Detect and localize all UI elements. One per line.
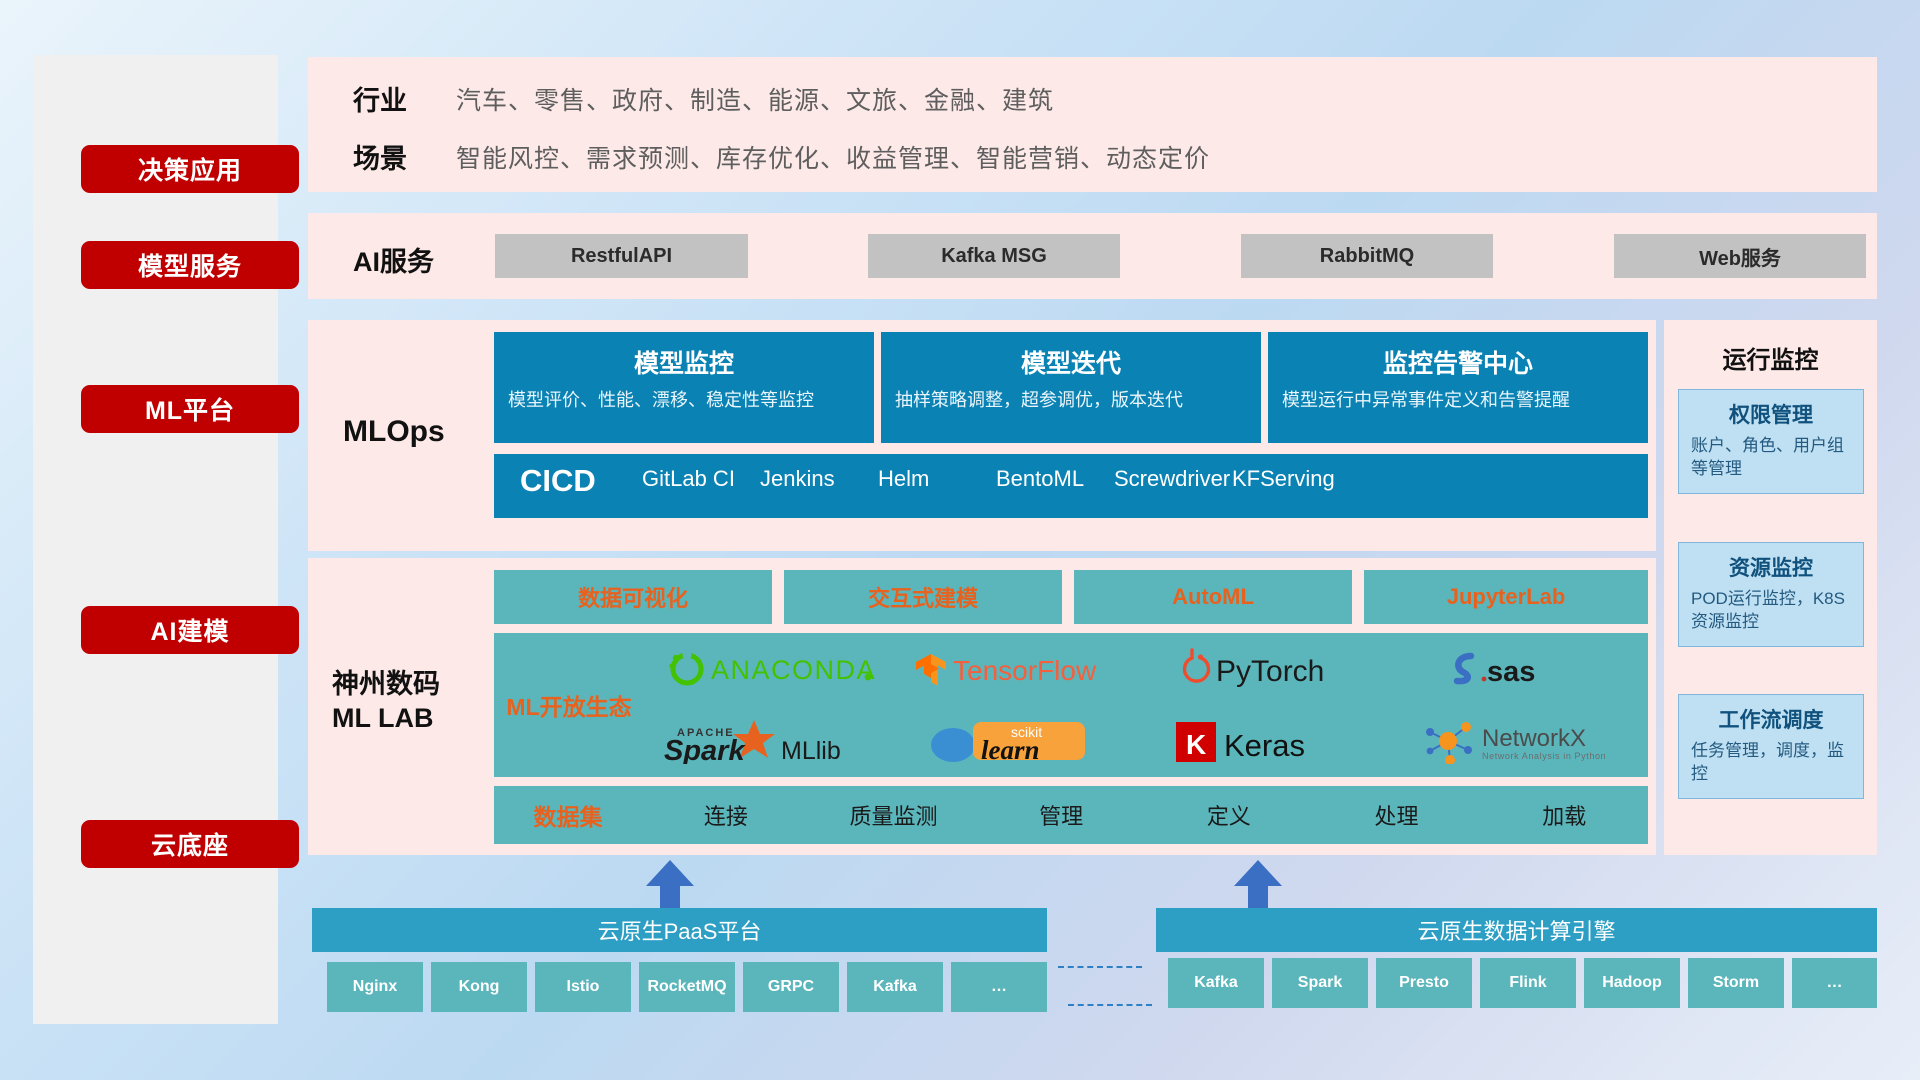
tensorflow-logo: TensorFlow (913, 648, 1128, 690)
ml-lab-label-line1: 神州数码 (332, 668, 440, 702)
card-title: 资源监控 (1691, 552, 1851, 582)
keras-logo: K Keras (1174, 718, 1370, 764)
chip-kong[interactable]: Kong (431, 962, 527, 1012)
tab-jupyterlab[interactable]: JupyterLab (1364, 570, 1648, 624)
mlops-card-model-iteration[interactable]: 模型迭代 抽样策略调整，超参调优，版本迭代 (881, 332, 1261, 443)
svg-text:K: K (1186, 729, 1206, 760)
svg-text:learn: learn (981, 735, 1040, 764)
dataset-item-connect[interactable]: 连接 (642, 799, 810, 831)
dataset-label: 数据集 (494, 798, 642, 832)
ai-service-panel: AI服务 RestfulAPI Kafka MSG RabbitMQ Web服务 (308, 213, 1877, 299)
sas-logo: sas (1443, 648, 1603, 690)
scikit-learn-logo: scikit learn (921, 718, 1121, 764)
dataset-item-define[interactable]: 定义 (1145, 799, 1313, 831)
cicd-item-screwdriver[interactable]: Screwdriver (1114, 454, 1232, 492)
service-pill-kafka-msg[interactable]: Kafka MSG (868, 234, 1120, 278)
chip-storm[interactable]: Storm (1688, 958, 1784, 1008)
svg-text:Network Analysis in Python: Network Analysis in Python (1482, 751, 1606, 761)
card-desc: 模型评价、性能、漂移、稳定性等监控 (508, 389, 860, 413)
application-layer-panel: 行业 汽车、零售、政府、制造、能源、文旅、金融、建筑 场景 智能风控、需求预测、… (308, 57, 1877, 192)
eco-label: ML开放生态 (494, 633, 644, 777)
svg-text:Keras: Keras (1224, 728, 1305, 763)
card-desc: 模型运行中异常事件定义和告警提醒 (1282, 389, 1634, 413)
mlops-card-model-monitoring[interactable]: 模型监控 模型评价、性能、漂移、稳定性等监控 (494, 332, 874, 443)
left-rail: 决策应用 模型服务 ML平台 AI建模 云底座 (33, 55, 278, 1024)
dataset-item-load[interactable]: 加载 (1480, 799, 1648, 831)
rail-chip-model-service[interactable]: 模型服务 (81, 241, 299, 289)
chip-spark[interactable]: Spark (1272, 958, 1368, 1008)
chip-rocketmq[interactable]: RocketMQ (639, 962, 735, 1012)
service-pill-restfulapi[interactable]: RestfulAPI (495, 234, 748, 278)
cicd-label: CICD (494, 454, 642, 499)
cicd-item-gitlab-ci[interactable]: GitLab CI (642, 454, 760, 492)
modeling-panel: 神州数码 ML LAB 数据可视化 交互式建模 AutoML JupyterLa… (308, 558, 1656, 855)
ml-lab-label-line2: ML LAB (332, 702, 440, 736)
svg-text:Spark: Spark (664, 735, 746, 764)
card-desc: 任务管理，调度，监控 (1691, 740, 1851, 786)
cicd-item-kfserving[interactable]: KFServing (1232, 454, 1350, 492)
dataset-item-quality[interactable]: 质量监测 (810, 799, 978, 831)
monitoring-card-resource[interactable]: 资源监控 POD运行监控，K8S资源监控 (1678, 542, 1864, 647)
service-pill-web[interactable]: Web服务 (1614, 234, 1866, 278)
arrow-up-paas (640, 860, 700, 908)
card-title: 工作流调度 (1691, 704, 1851, 734)
card-title: 模型监控 (508, 344, 860, 380)
data-engine-bar[interactable]: 云原生数据计算引擎 (1156, 908, 1877, 952)
card-desc: POD运行监控，K8S资源监控 (1691, 588, 1851, 634)
chip-hadoop[interactable]: Hadoop (1584, 958, 1680, 1008)
chip-more-right[interactable]: … (1792, 958, 1877, 1008)
rail-chip-ai-modeling[interactable]: AI建模 (81, 606, 299, 654)
chip-flink[interactable]: Flink (1480, 958, 1576, 1008)
svg-text:TensorFlow: TensorFlow (953, 655, 1097, 686)
rail-chip-cloud-base[interactable]: 云底座 (81, 820, 299, 868)
chip-istio[interactable]: Istio (535, 962, 631, 1012)
chip-grpc[interactable]: GRPC (743, 962, 839, 1012)
monitoring-card-workflow[interactable]: 工作流调度 任务管理，调度，监控 (1678, 694, 1864, 799)
rail-chip-ml-platform[interactable]: ML平台 (81, 385, 299, 433)
industry-value: 汽车、零售、政府、制造、能源、文旅、金融、建筑 (456, 81, 1054, 117)
tab-automl[interactable]: AutoML (1074, 570, 1352, 624)
svg-text:ANACONDA: ANACONDA (711, 655, 875, 685)
monitoring-card-permission[interactable]: 权限管理 账户、角色、用户组等管理 (1678, 389, 1864, 494)
card-desc: 账户、角色、用户组等管理 (1691, 435, 1851, 481)
chip-kafka-right[interactable]: Kafka (1168, 958, 1264, 1008)
svg-text:PyTorch: PyTorch (1216, 655, 1324, 688)
mlops-panel: MLOps 模型监控 模型评价、性能、漂移、稳定性等监控 模型迭代 抽样策略调整… (308, 320, 1656, 551)
networkx-logo: NetworkX Network Analysis in Python (1418, 718, 1628, 764)
card-title: 模型迭代 (895, 344, 1247, 380)
scene-label: 场景 (353, 137, 407, 176)
monitoring-title: 运行监控 (1664, 340, 1877, 375)
ml-open-ecosystem: ML开放生态 ANACONDA (494, 633, 1648, 777)
paas-bar[interactable]: 云原生PaaS平台 (312, 908, 1047, 952)
eco-logo-grid: ANACONDA TensorFlow (644, 633, 1648, 777)
service-pill-rabbitmq[interactable]: RabbitMQ (1241, 234, 1493, 278)
chip-presto[interactable]: Presto (1376, 958, 1472, 1008)
pytorch-logo: PyTorch (1172, 648, 1372, 690)
cicd-item-bentoml[interactable]: BentoML (996, 454, 1114, 492)
ai-service-label: AI服务 (353, 240, 434, 279)
card-desc: 抽样策略调整，超参调优，版本迭代 (895, 389, 1247, 413)
architecture-diagram: 决策应用 模型服务 ML平台 AI建模 云底座 行业 汽车、零售、政府、制造、能… (0, 0, 1920, 1080)
svg-text:sas: sas (1487, 656, 1535, 688)
arrow-up-data-engine (1228, 860, 1288, 908)
monitoring-panel: 运行监控 权限管理 账户、角色、用户组等管理 资源监控 POD运行监控，K8S资… (1664, 320, 1877, 855)
svg-text:NetworkX: NetworkX (1482, 725, 1586, 752)
chip-nginx[interactable]: Nginx (327, 962, 423, 1012)
svg-text:MLlib: MLlib (781, 737, 841, 764)
tab-data-visualization[interactable]: 数据可视化 (494, 570, 772, 624)
anaconda-logo: ANACONDA (665, 648, 875, 690)
tab-interactive-modeling[interactable]: 交互式建模 (784, 570, 1062, 624)
chip-kafka-left[interactable]: Kafka (847, 962, 943, 1012)
mlops-card-alert-center[interactable]: 监控告警中心 模型运行中异常事件定义和告警提醒 (1268, 332, 1648, 443)
industry-label: 行业 (353, 79, 407, 118)
chip-more-left[interactable]: … (951, 962, 1047, 1012)
card-title: 权限管理 (1691, 399, 1851, 429)
ml-lab-label: 神州数码 ML LAB (332, 668, 440, 736)
cicd-bar: CICD GitLab CI Jenkins Helm BentoML Scre… (494, 454, 1648, 518)
dataset-item-manage[interactable]: 管理 (977, 799, 1145, 831)
dash-line-right (1058, 966, 1142, 968)
dash-line-left (1068, 1004, 1152, 1006)
dataset-bar: 数据集 连接 质量监测 管理 定义 处理 加载 (494, 786, 1648, 844)
scene-value: 智能风控、需求预测、库存优化、收益管理、智能营销、动态定价 (456, 139, 1210, 175)
cicd-item-jenkins[interactable]: Jenkins (760, 454, 878, 492)
spark-mllib-logo: APACHE Spark MLlib (659, 718, 881, 764)
card-title: 监控告警中心 (1282, 344, 1634, 380)
cicd-item-helm[interactable]: Helm (878, 454, 996, 492)
dataset-item-process[interactable]: 处理 (1313, 799, 1481, 831)
mlops-label: MLOps (343, 415, 445, 449)
rail-chip-decision[interactable]: 决策应用 (81, 145, 299, 193)
